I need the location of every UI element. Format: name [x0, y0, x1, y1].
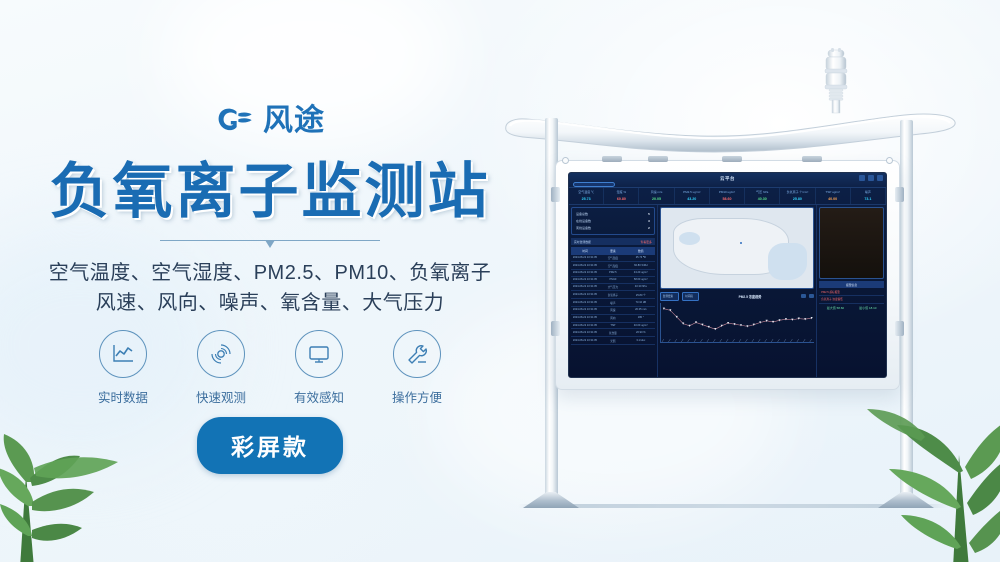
mini-stat: 最小值 18.10: [859, 306, 876, 310]
mount-tab: [802, 156, 822, 162]
metric-value: 40.00: [816, 197, 850, 201]
stat-label: 离线设备数: [576, 226, 591, 230]
section-title: 实时监测数据: [574, 240, 591, 244]
tool-icon[interactable]: [868, 175, 874, 181]
center-column: 监测要素 时间段 PM2.5 浓度趋势: [658, 205, 817, 377]
cloud-platform-dashboard: 云平台 空气温度 ℃25.73湿度 %60.80风速 m/s20.05PM2.5…: [569, 173, 886, 377]
mount-tab: [602, 156, 622, 162]
metric-label: PM2.5 ug/m³: [675, 190, 709, 194]
mount-eyelet: [562, 157, 569, 164]
latch: [895, 187, 904, 202]
mount-tab: [722, 156, 742, 162]
column-header: 要素: [599, 247, 627, 254]
tool-icon[interactable]: [859, 175, 865, 181]
table-cell: 2023-08-22 10:31:05: [571, 291, 599, 298]
subtitle-line-2: 风速、风向、噪声、氧含量、大气压力: [0, 288, 540, 318]
table-row: 2023-08-22 10:31:05风向180 °: [571, 315, 655, 323]
table-row: 2023-08-22 10:31:05风速20.05 m/s: [571, 307, 655, 315]
map-station-pin[interactable]: [740, 242, 742, 244]
table-cell: 73.10 dB: [627, 299, 655, 306]
hero-text-panel: 风途 负氧离子监测站 空气温度、空气湿度、PM2.5、PM10、负氧离子 风速、…: [0, 0, 540, 562]
brand-logo: 风途: [0, 104, 540, 138]
metric-label: TSP ug/m³: [816, 190, 850, 194]
metric-label: 风速 m/s: [639, 190, 673, 194]
trend-chart: [660, 303, 815, 343]
table-cell: 2023-08-22 10:31:05: [571, 323, 599, 329]
feature-item-realtime-data[interactable]: 实时数据: [90, 330, 156, 406]
alarm-header: 报警信息: [819, 281, 884, 288]
table-cell: 空气温度: [599, 255, 627, 262]
hinge: [551, 187, 560, 202]
table-cell: 2023-08-22 10:31:05: [571, 284, 599, 291]
alarm-list: PM2.5 超标报警负氧离子 浓度偏低: [819, 288, 884, 304]
metric-card: TSP ug/m³40.00: [816, 188, 851, 204]
dashboard-header: 云平台: [569, 173, 886, 188]
table-row: 2023-08-22 10:31:05噪声73.10 dB: [571, 299, 655, 307]
table-cell: 2023-08-22 10:31:05: [571, 307, 599, 314]
table-cell: 光照: [599, 337, 627, 344]
table-cell: 3.1 klux: [627, 337, 655, 344]
alarm-row: 负氧离子 浓度偏低: [819, 296, 884, 304]
section-action[interactable]: 查看更多: [641, 240, 652, 244]
metric-label: 湿度 %: [604, 190, 638, 194]
stat-label: 设备总数: [576, 212, 588, 216]
base-plate-left: [523, 492, 579, 508]
metric-card: 噪声73.1: [851, 188, 886, 204]
metric-value: 25.73: [569, 197, 603, 201]
stat-row: 设备总数5: [576, 211, 650, 218]
metric-value: 25.80: [780, 197, 814, 201]
latch: [895, 321, 904, 336]
metric-value: 60.80: [604, 197, 638, 201]
table-cell: 2023-08-22 10:31:05: [571, 255, 599, 262]
map-sea: [768, 243, 808, 280]
feature-icon-row: 实时数据 快速观测: [0, 330, 540, 406]
table-header: 时间要素数值: [571, 247, 655, 254]
table-cell: 60.80 %RH: [627, 262, 655, 269]
metric-label: 空气温度 ℃: [569, 190, 603, 194]
metric-value: 40.30: [745, 197, 779, 201]
metric-card: PM10 ug/m³58.60: [710, 188, 745, 204]
table-cell: 噪声: [599, 299, 627, 306]
table-row: 2023-08-22 10:31:05PM1058.60 ug/m³: [571, 277, 655, 284]
display-cabinet: 云平台 空气温度 ℃25.73湿度 %60.80风速 m/s20.05PM2.5…: [555, 160, 900, 390]
section-bar: 实时监测数据 查看更多: [571, 238, 655, 245]
metric-card: 空气温度 ℃25.73: [569, 188, 604, 204]
device-stats-box: 设备总数5在线设备数3离线设备数2: [571, 207, 655, 235]
chart-title: PM2.5 浓度趋势: [702, 294, 798, 299]
left-column: 设备总数5在线设备数3离线设备数2 实时监测数据 查看更多 时间要素数值 202…: [569, 205, 658, 377]
table-cell: 2023-08-22 10:31:05: [571, 262, 599, 269]
metric-card: 负氧离子 个/cm³25.80: [780, 188, 815, 204]
page-background: 风途 负氧离子监测站 空气温度、空气湿度、PM2.5、PM10、负氧离子 风速、…: [0, 0, 1000, 562]
right-column: 报警信息 PM2.5 超标报警负氧离子 浓度偏低 最大值 58.60最小值 18…: [816, 205, 886, 377]
monitoring-station-illustration: 云平台 空气温度 ℃25.73湿度 %60.80风速 m/s20.05PM2.5…: [500, 0, 1000, 562]
feature-item-easy-operation[interactable]: 操作方便: [384, 330, 450, 406]
chart-view-button[interactable]: [801, 294, 806, 298]
table-row: 2023-08-22 10:31:05氧含量20.90 %: [571, 329, 655, 337]
table-cell: 40.30 hPa: [627, 284, 655, 291]
table-cell: PM10: [599, 277, 627, 283]
stat-row: 在线设备数3: [576, 218, 650, 225]
brand-name: 风途: [263, 106, 325, 136]
table-row: 2023-08-22 10:31:05空气温度25.73 ℃: [571, 255, 655, 263]
stat-value: 3: [648, 219, 650, 223]
table-cell: 大气压力: [599, 284, 627, 291]
table-cell: 空气湿度: [599, 262, 627, 269]
header-tools[interactable]: [859, 175, 883, 181]
column-header: 数值: [627, 247, 655, 254]
table-cell: 2023-08-22 10:31:05: [571, 299, 599, 306]
table-cell: 20.05 m/s: [627, 307, 655, 314]
table-cell: TSP: [599, 323, 627, 329]
table-cell: 20.90 %: [627, 329, 655, 336]
table-row: 2023-08-22 10:31:05PM2.543.20 ug/m³: [571, 270, 655, 277]
dashboard-title: 云平台: [569, 176, 886, 182]
table-cell: 风向: [599, 315, 627, 322]
alarm-row: PM2.5 超标报警: [819, 288, 884, 296]
stat-value: 5: [648, 212, 650, 216]
timerange-select[interactable]: 时间段: [682, 292, 699, 301]
table-row: 2023-08-22 10:31:05TSP40.00 ug/m³: [571, 323, 655, 330]
feature-label: 操作方便: [384, 387, 450, 406]
hinge: [551, 321, 560, 336]
metric-value: 43.20: [675, 197, 709, 201]
metric-value: 20.05: [639, 197, 673, 201]
chart-toolbar: 监测要素 时间段 PM2.5 浓度趋势: [660, 292, 815, 301]
metric-label: 气压 hPa: [745, 190, 779, 194]
element-select[interactable]: 监测要素: [660, 292, 679, 301]
metric-label: 噪声: [851, 190, 885, 194]
metric-value: 58.60: [710, 197, 744, 201]
table-cell: 43.20 ug/m³: [627, 270, 655, 276]
table-cell: 25.73 ℃: [627, 255, 655, 262]
chart-export-button[interactable]: [809, 294, 814, 298]
metric-value: 73.1: [851, 197, 885, 201]
table-cell: 40.00 ug/m³: [627, 323, 655, 329]
tool-icon[interactable]: [877, 175, 883, 181]
feature-label: 快速观测: [188, 387, 254, 406]
mount-tab: [648, 156, 668, 162]
feature-item-effective-sensing[interactable]: 有效感知: [286, 330, 352, 406]
table-row: 2023-08-22 10:31:05大气压力40.30 hPa: [571, 284, 655, 292]
metric-card: 湿度 %60.80: [604, 188, 639, 204]
table-cell: 58.60 ug/m³: [627, 277, 655, 283]
table-cell: 氧含量: [599, 329, 627, 336]
base-plate-right: [878, 492, 934, 508]
line-chart-icon: [99, 330, 147, 378]
table-row: 2023-08-22 10:31:05空气湿度60.80 %RH: [571, 262, 655, 270]
color-screen-model-button[interactable]: 彩屏款: [197, 417, 343, 474]
subtitle-line-1: 空气温度、空气湿度、PM2.5、PM10、负氧离子: [0, 258, 540, 288]
table-cell: 2023-08-22 10:31:05: [571, 337, 599, 344]
metric-card: PM2.5 ug/m³43.20: [675, 188, 710, 204]
metric-label: PM10 ug/m³: [710, 190, 744, 194]
mount-eyelet: [886, 157, 893, 164]
table-row: 2023-08-22 10:31:05光照3.1 klux: [571, 337, 655, 345]
map-lake: [679, 232, 700, 245]
camera-feed[interactable]: [819, 207, 884, 279]
feature-item-fast-observation[interactable]: 快速观测: [188, 330, 254, 406]
metric-card: 气压 hPa40.30: [745, 188, 780, 204]
feature-subtitle: 空气温度、空气湿度、PM2.5、PM10、负氧离子 风速、风向、噪声、氧含量、大…: [0, 258, 540, 318]
table-cell: 180 °: [627, 315, 655, 322]
data-table-body: 2023-08-22 10:31:05空气温度25.73 ℃2023-08-22…: [571, 255, 655, 345]
table-cell: 风速: [599, 307, 627, 314]
table-cell: PM2.5: [599, 270, 627, 276]
mini-stat: 最大值 58.60: [827, 306, 844, 310]
radar-observe-icon: [197, 330, 245, 378]
page-title: 负氧离子监测站: [0, 160, 540, 225]
display-screen: 云平台 空气温度 ℃25.73湿度 %60.80风速 m/s20.05PM2.5…: [568, 172, 887, 378]
metric-card: 风速 m/s20.05: [639, 188, 674, 204]
table-cell: 25.80 个: [627, 291, 655, 298]
station-select[interactable]: [573, 182, 615, 187]
table-cell: 2023-08-22 10:31:05: [571, 315, 599, 322]
title-divider: [160, 240, 380, 252]
support-post-right: [900, 120, 913, 506]
leaf-g-logo-icon: [215, 104, 255, 138]
china-map[interactable]: [660, 207, 815, 289]
table-cell: 2023-08-22 10:31:05: [571, 329, 599, 336]
dashboard-body: 设备总数5在线设备数3离线设备数2 实时监测数据 查看更多 时间要素数值 202…: [569, 205, 886, 377]
stat-value: 2: [648, 226, 650, 230]
wrench-icon: [393, 330, 441, 378]
metric-label: 负氧离子 个/cm³: [780, 190, 814, 194]
feature-label: 实时数据: [90, 387, 156, 406]
stat-label: 在线设备数: [576, 219, 591, 223]
table-row: 2023-08-22 10:31:05负氧离子25.80 个: [571, 291, 655, 299]
metric-card-row: 空气温度 ℃25.73湿度 %60.80风速 m/s20.05PM2.5 ug/…: [569, 188, 886, 205]
monitor-icon: [295, 330, 343, 378]
table-cell: 2023-08-22 10:31:05: [571, 277, 599, 283]
column-header: 时间: [571, 247, 599, 254]
feature-label: 有效感知: [286, 387, 352, 406]
table-cell: 2023-08-22 10:31:05: [571, 270, 599, 276]
stat-row: 离线设备数2: [576, 225, 650, 232]
table-cell: 负氧离子: [599, 291, 627, 298]
mini-stat-row: 最大值 58.60最小值 18.10: [819, 304, 884, 312]
